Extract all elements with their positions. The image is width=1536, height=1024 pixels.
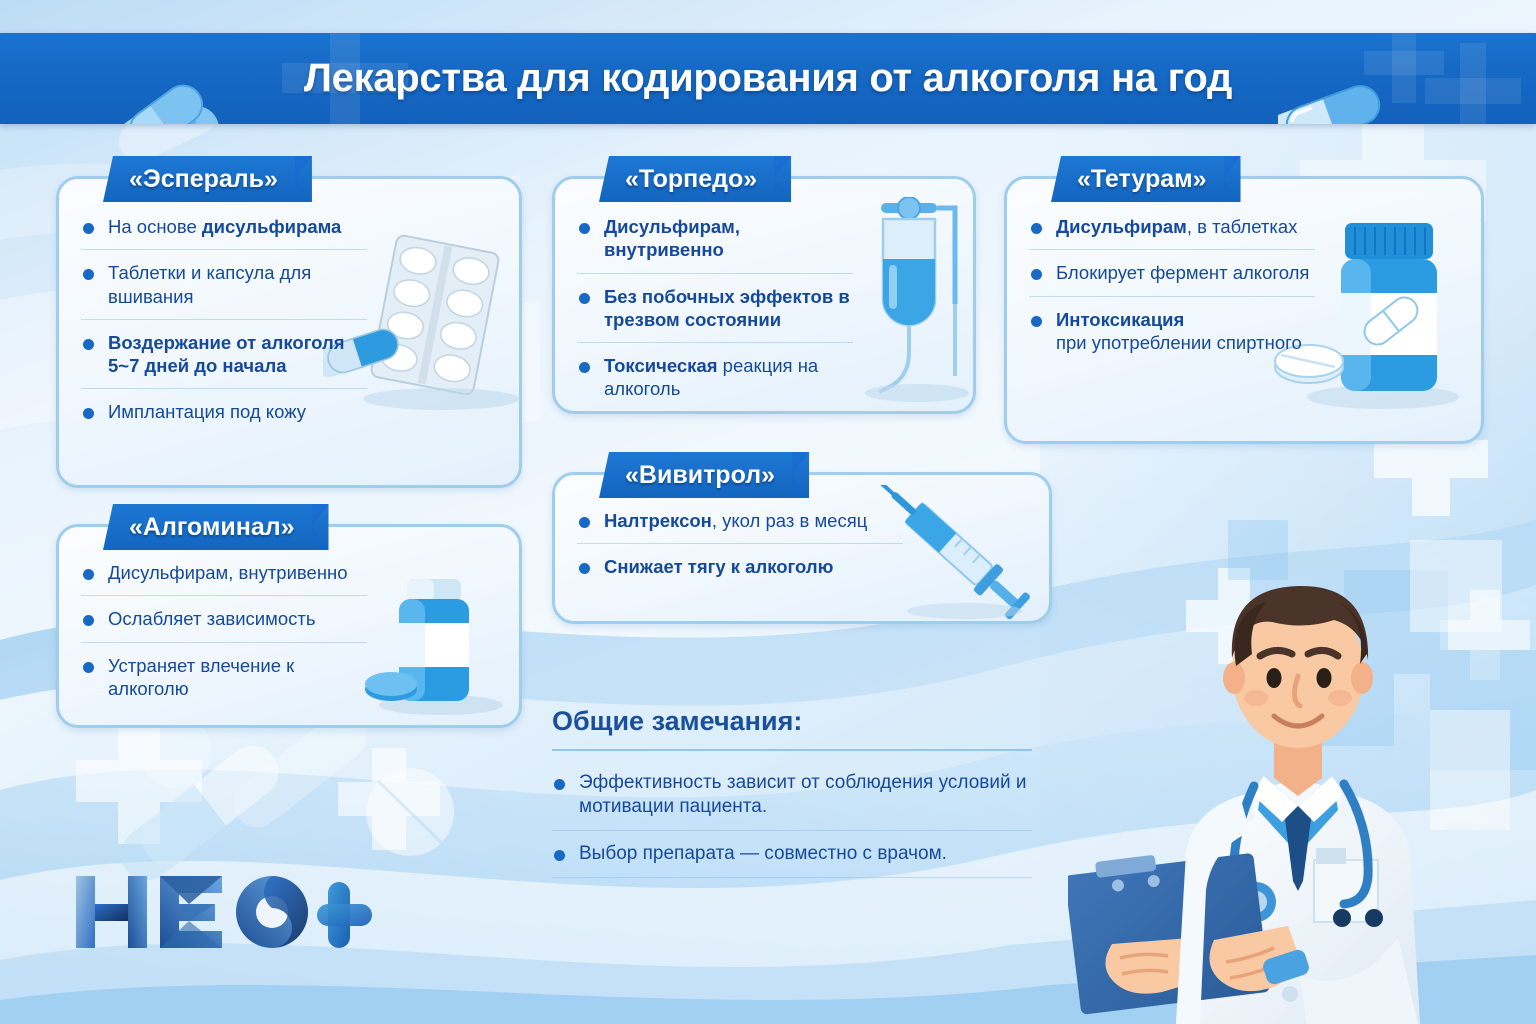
- card-torpedo: «Торпедо» Дисульфирам, внутривенно Без п…: [552, 176, 976, 414]
- list-item: Снижает тягу к алкоголю: [577, 555, 903, 580]
- card-vivitrol: «Вивитрол» Налтрексон, укол раз в м: [552, 472, 1052, 624]
- list-item: Блокирует фермент алкоголя: [1029, 261, 1315, 296]
- card-algominal: «Алгоминал» Дисульфирам, внутривенно Осл…: [56, 524, 522, 728]
- list-item: Устраняет влечение к алкоголю: [81, 654, 367, 703]
- list-item: Таблетки и капсула для вшивания: [81, 261, 367, 320]
- list-item: Без побочных эффектов в трезвом состояни…: [577, 285, 853, 344]
- list-item: Дисульфирам, внутривенно: [577, 215, 853, 274]
- neo-plus-logo: [72, 868, 372, 958]
- card-title-algominal: «Алгоминал»: [103, 504, 329, 550]
- card-teturam: «Тетурам» Дисульфирам, в: [1004, 176, 1484, 444]
- bullet-list-esperal: На основе дисульфирама Таблетки и капсул…: [81, 215, 367, 426]
- notes-list: Эффективность зависит от соблюдения усло…: [552, 771, 1032, 878]
- infographic-canvas: Лекарства для кодирования от алкоголя на…: [0, 0, 1536, 1024]
- list-item: Токсическая реакция на алкоголь: [577, 354, 853, 403]
- list-item: Имплантация под кожу: [81, 400, 367, 425]
- capsule-icon: [1278, 79, 1388, 124]
- header-band: Лекарства для кодирования от алкоголя на…: [0, 33, 1536, 124]
- card-title-teturam: «Тетурам»: [1051, 156, 1241, 202]
- bullet-list-vivitrol: Налтрексон, укол раз в месяц Снижает тяг…: [577, 509, 903, 581]
- notes-heading: Общие замечания:: [552, 706, 1032, 751]
- list-item: Дисульфирам, в таблетках: [1029, 215, 1315, 250]
- list-item: Эффективность зависит от соблюдения усло…: [552, 771, 1032, 831]
- card-title-vivitrol: «Вивитрол»: [599, 452, 809, 498]
- card-title-esperal: «Эспераль»: [103, 156, 312, 202]
- bullet-list-torpedo: Дисульфирам, внутривенно Без побочных эф…: [577, 215, 853, 403]
- list-item: Интоксикация при употреблении спиртного: [1029, 308, 1315, 357]
- general-notes-section: Общие замечания: Эффективность зависит о…: [552, 706, 1032, 878]
- bullet-list-algominal: Дисульфирам, внутривенно Ослабляет завис…: [81, 561, 367, 702]
- capsule-and-pill-icon: [118, 77, 228, 124]
- list-item: Воздержание от алкоголя 5~7 дней до нача…: [81, 331, 367, 390]
- bullet-list-teturam: Дисульфирам, в таблетках Блокирует ферме…: [1029, 215, 1315, 356]
- doctor-with-clipboard-illustration: [1068, 530, 1536, 1024]
- list-item: Выбор препарата — совместно с врачом.: [552, 842, 1032, 878]
- list-item: Налтрексон, укол раз в месяц: [577, 509, 903, 544]
- card-title-torpedo: «Торпедо»: [599, 156, 791, 202]
- card-esperal: «Эспераль» На основе дисульф: [56, 176, 522, 488]
- list-item: Дисульфирам, внутривенно: [81, 561, 367, 596]
- list-item: На основе дисульфирама: [81, 215, 367, 250]
- list-item: Ослабляет зависимость: [81, 607, 367, 642]
- page-title: Лекарства для кодирования от алкоголя на…: [304, 56, 1232, 101]
